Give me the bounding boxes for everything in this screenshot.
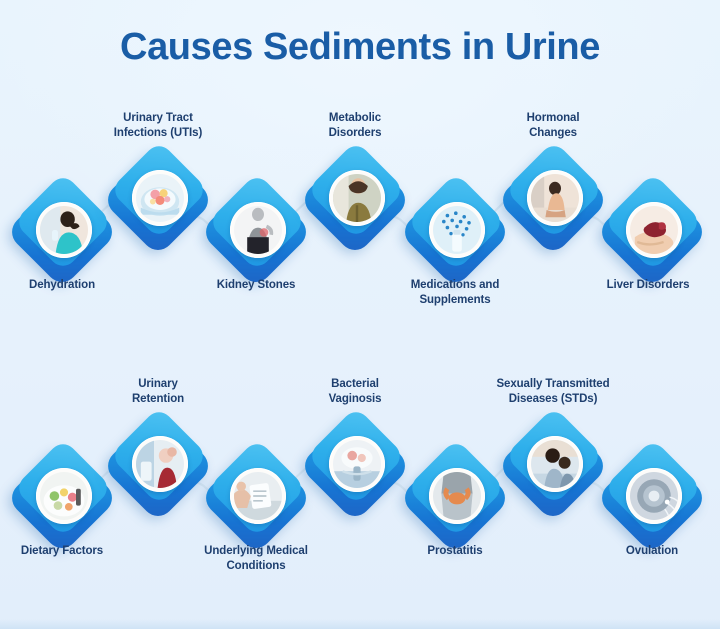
cause-label-prostatitis: Prostatitis [375, 544, 535, 559]
cause-node-bacterial-vaginosis[interactable] [307, 418, 403, 514]
liver-organ-hands-icon [630, 206, 678, 254]
cause-node-hormonal-changes[interactable] [505, 152, 601, 248]
cause-label-ovulation: Ovulation [572, 544, 720, 559]
cause-label-hormonal-changes: Hormonal Changes [473, 111, 633, 141]
cause-label-dehydration: Dehydration [0, 278, 142, 293]
medical-equipment-icon [136, 440, 184, 488]
cause-label-dietary-factors: Dietary Factors [0, 544, 142, 559]
cause-label-underlying-conditions: Underlying Medical Conditions [176, 544, 336, 574]
bacteria-culture-dish-icon [136, 174, 184, 222]
photo-ring-dehydration [36, 202, 92, 258]
cause-node-utis[interactable] [110, 152, 206, 248]
cause-label-medications: Medications and Supplements [375, 278, 535, 308]
woman-sitting-bed-icon [531, 174, 579, 222]
cause-label-metabolic-disorders: Metabolic Disorders [275, 111, 435, 141]
cause-label-utis: Urinary Tract Infections (UTIs) [78, 111, 238, 141]
couple-bed-icon [531, 440, 579, 488]
photo-ring-utis [132, 170, 188, 226]
photo-ring-hormonal-changes [527, 170, 583, 226]
photo-ring-metabolic-disorders [329, 170, 385, 226]
photo-ring-kidney-stones [230, 202, 286, 258]
healthy-food-plate-icon [40, 472, 88, 520]
woman-in-jacket-icon [333, 174, 381, 222]
photo-ring-underlying-conditions [230, 468, 286, 524]
page-title: Causes Sediments in Urine [0, 26, 720, 69]
pills-spilled-bottle-icon [433, 206, 481, 254]
cause-label-bacterial-vaginosis: Bacterial Vaginosis [275, 377, 435, 407]
ovum-cell-icon [630, 472, 678, 520]
cause-node-urinary-retention[interactable] [110, 418, 206, 514]
cause-node-metabolic-disorders[interactable] [307, 152, 403, 248]
doctor-clipboard-icon [234, 472, 282, 520]
cause-node-kidney-stones[interactable] [208, 184, 304, 280]
photo-ring-dietary-factors [36, 468, 92, 524]
woman-back-pain-icon [234, 206, 282, 254]
photo-ring-liver-disorders [626, 202, 682, 258]
cause-label-stds: Sexually Transmitted Diseases (STDs) [473, 377, 633, 407]
cause-node-medications[interactable] [407, 184, 503, 280]
photo-ring-bacterial-vaginosis [329, 436, 385, 492]
woman-drinking-water-icon [40, 206, 88, 254]
photo-ring-ovulation [626, 468, 682, 524]
cause-node-prostatitis[interactable] [407, 450, 503, 546]
photo-ring-prostatitis [429, 468, 485, 524]
cause-node-stds[interactable] [505, 418, 601, 514]
cause-node-ovulation[interactable] [604, 450, 700, 546]
photo-ring-stds [527, 436, 583, 492]
cause-node-dehydration[interactable] [14, 184, 110, 280]
man-pelvic-pain-icon [433, 472, 481, 520]
cause-node-underlying-conditions[interactable] [208, 450, 304, 546]
cause-node-dietary-factors[interactable] [14, 450, 110, 546]
cause-node-liver-disorders[interactable] [604, 184, 700, 280]
cause-label-kidney-stones: Kidney Stones [176, 278, 336, 293]
photo-ring-urinary-retention [132, 436, 188, 492]
cause-label-urinary-retention: Urinary Retention [78, 377, 238, 407]
photo-ring-medications [429, 202, 485, 258]
cause-label-liver-disorders: Liver Disorders [568, 278, 720, 293]
microscope-sample-icon [333, 440, 381, 488]
infographic-canvas: Causes Sediments in Urine DehydrationUri… [0, 0, 720, 629]
